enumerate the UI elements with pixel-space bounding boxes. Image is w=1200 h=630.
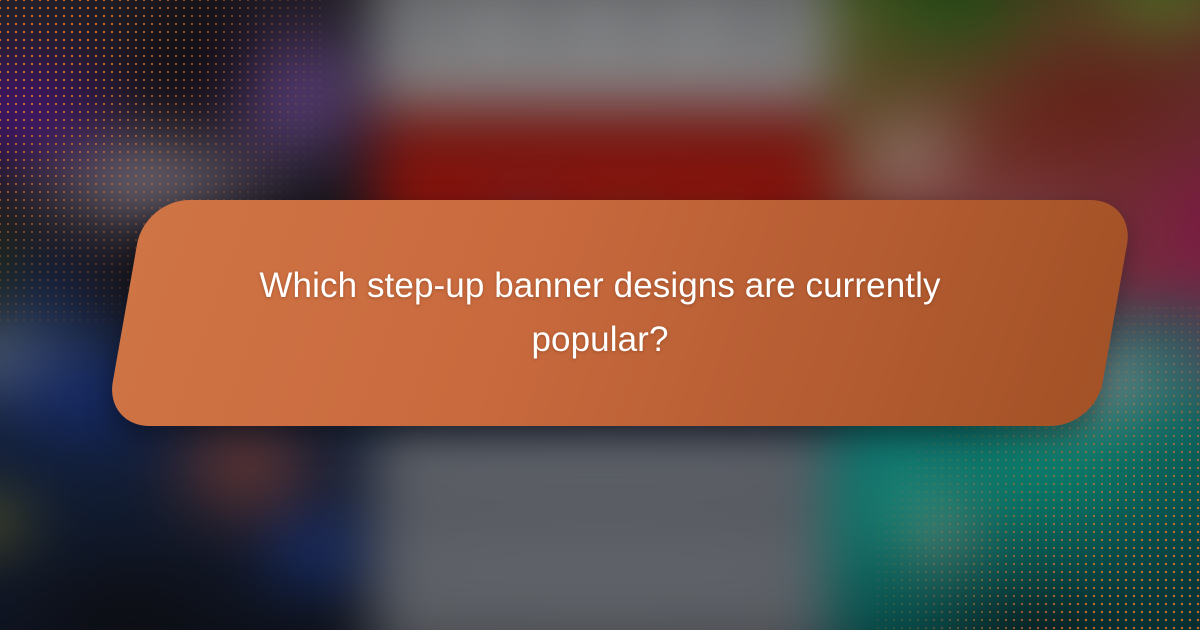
question-card-content: Which step-up banner designs are current… <box>105 200 1095 426</box>
social-share-card: Which step-up banner designs are current… <box>0 0 1200 630</box>
question-title: Which step-up banner designs are current… <box>220 259 980 368</box>
question-card: Which step-up banner designs are current… <box>105 200 1095 426</box>
